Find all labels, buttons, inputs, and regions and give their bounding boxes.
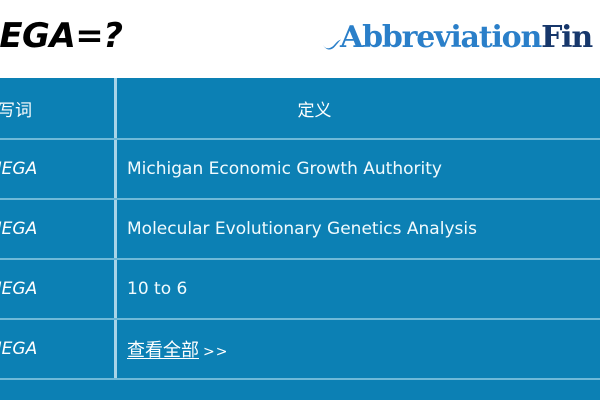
abbreviation-value: MEGA (0, 219, 37, 239)
abbreviation-value: MEGA (0, 279, 37, 299)
view-all-link[interactable]: 查看全部>> (127, 336, 228, 362)
view-all-label: 查看全部 (127, 340, 199, 361)
definition-value: Michigan Economic Growth Authority (127, 159, 442, 179)
column-header-definition: 定义 (298, 96, 332, 121)
table-cell-definition: 查看全部>> (114, 320, 600, 378)
logo-text-secondary: Fin (541, 20, 592, 55)
view-all-arrows: >> (203, 344, 228, 360)
definition-value: Molecular Evolutionary Genetics Analysis (127, 219, 477, 239)
table-header-cell-definition: 定义 (114, 78, 600, 138)
table-header-cell-abbr: 母缩写词 (0, 78, 114, 138)
table-row[interactable]: MEGA Molecular Evolutionary Genetics Ana… (0, 200, 600, 260)
abbreviation-value: MEGA (0, 159, 37, 179)
table-row[interactable]: MEGA 查看全部>> (0, 320, 600, 380)
table-cell-abbreviation: MEGA (0, 200, 114, 258)
table-cell-definition: Michigan Economic Growth Authority (114, 140, 600, 198)
page-title: MEGA=? (0, 16, 123, 56)
table-row[interactable]: MEGA Michigan Economic Growth Authority (0, 140, 600, 200)
abbreviation-value: MEGA (0, 339, 37, 359)
table-cell-definition: 10 to 6 (114, 260, 600, 318)
table-cell-abbreviation: MEGA (0, 260, 114, 318)
table-cell-abbreviation: MEGA (0, 140, 114, 198)
table-cell-definition: Molecular Evolutionary Genetics Analysis (114, 200, 600, 258)
abbreviation-table: 母缩写词 定义 MEGA Michigan Economic Growth Au… (0, 78, 600, 400)
swoosh-icon (322, 25, 342, 59)
site-logo[interactable]: AbbreviationFin (322, 19, 592, 59)
page-root: MEGA=? AbbreviationFin 母缩写词 定义 MEGA Mich… (0, 0, 600, 400)
table-row[interactable]: MEGA 10 to 6 (0, 260, 600, 320)
page-header: MEGA=? AbbreviationFin (0, 0, 600, 78)
table-header-row: 母缩写词 定义 (0, 78, 600, 140)
definition-value: 10 to 6 (127, 279, 187, 299)
table-cell-abbreviation: MEGA (0, 320, 114, 378)
logo-text-primary: Abbreviation (340, 20, 541, 55)
column-header-abbreviation: 母缩写词 (0, 96, 32, 121)
